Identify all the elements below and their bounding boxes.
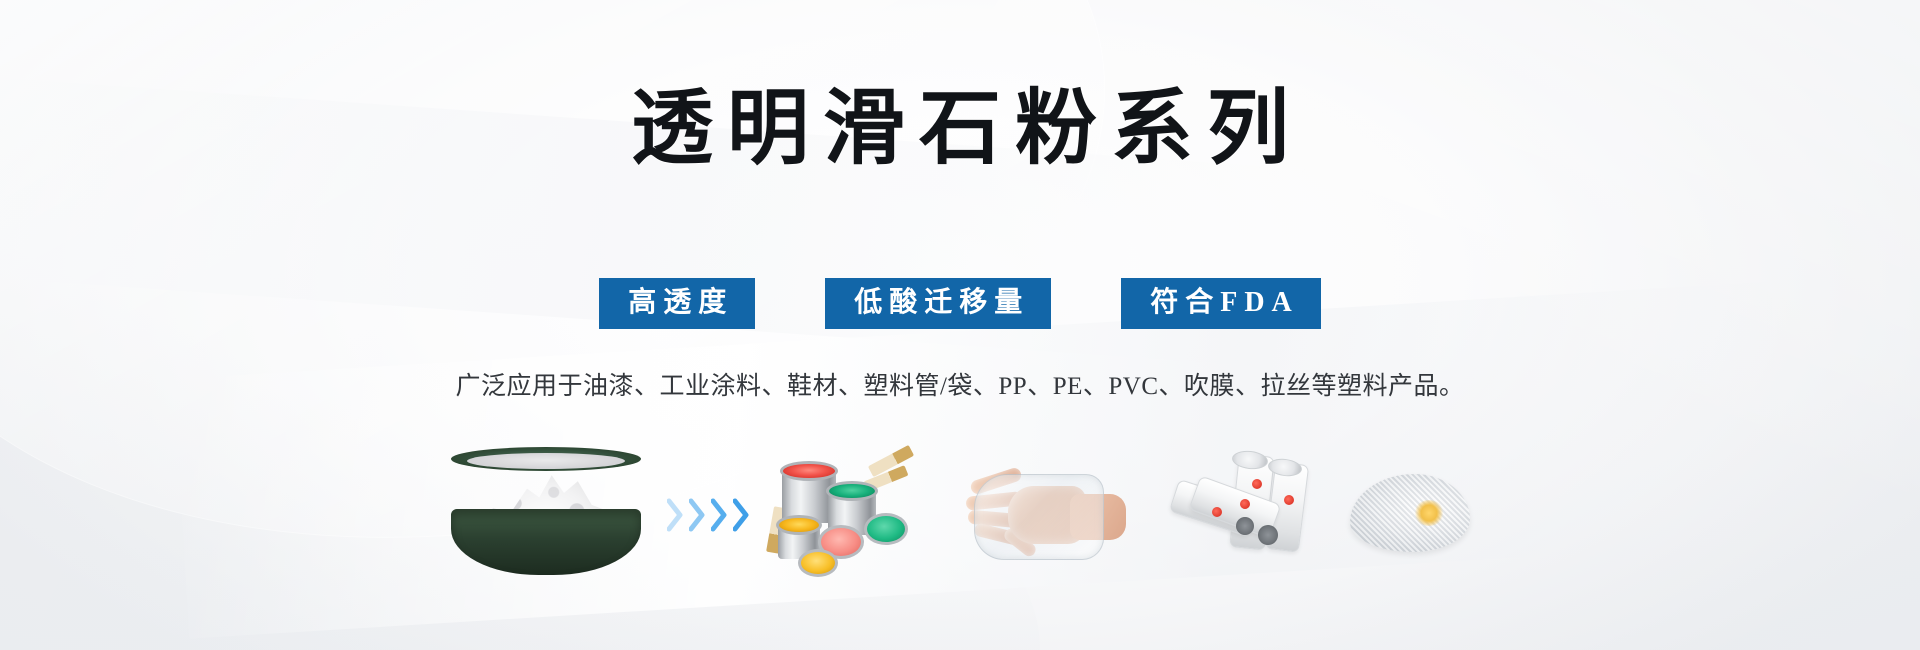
brand-dot <box>1240 499 1250 509</box>
film-roll-core <box>1258 525 1278 545</box>
chevron-right-icon <box>733 498 750 532</box>
film-roll-core <box>1236 517 1254 535</box>
plastic-film-rolls-image <box>1166 420 1316 610</box>
insole-body <box>1350 474 1470 552</box>
bowl-body <box>451 509 641 575</box>
paint-cans-image <box>776 420 926 610</box>
paint-lid-green <box>864 513 908 545</box>
brand-dot <box>1252 479 1262 489</box>
feature-badge-fda-compliant: 符合FDA <box>1121 278 1321 329</box>
feature-badge-low-acid-migration: 低酸迁移量 <box>825 278 1051 329</box>
chevron-right-icon <box>711 498 728 532</box>
plastic-glove-film <box>974 474 1104 560</box>
shoe-insole-image <box>1350 420 1470 610</box>
feature-badge-group: 高透度 低酸迁移量 符合FDA <box>0 278 1920 329</box>
product-application-strip <box>0 420 1920 610</box>
product-banner: 透明滑石粉系列 高透度 低酸迁移量 符合FDA 广泛应用于油漆、工业涂料、鞋材、… <box>0 0 1920 650</box>
chevron-right-icon <box>689 498 706 532</box>
feature-badge-high-transparency: 高透度 <box>599 278 755 329</box>
banner-subtitle: 广泛应用于油漆、工业涂料、鞋材、塑料管/袋、PP、PE、PVC、吹膜、拉丝等塑料… <box>0 366 1920 402</box>
brand-dot <box>1284 495 1294 505</box>
paint-lid-yellow <box>798 549 838 577</box>
process-arrows-group <box>641 420 776 610</box>
bowl-inner-powder <box>467 453 625 469</box>
gloved-hand-image <box>966 420 1126 610</box>
insole-highlight <box>1414 500 1444 526</box>
banner-title: 透明滑石粉系列 <box>0 88 1920 170</box>
brand-dot <box>1212 507 1222 517</box>
talc-powder-bowl-image <box>441 420 641 610</box>
chevron-right-icon <box>667 498 684 532</box>
